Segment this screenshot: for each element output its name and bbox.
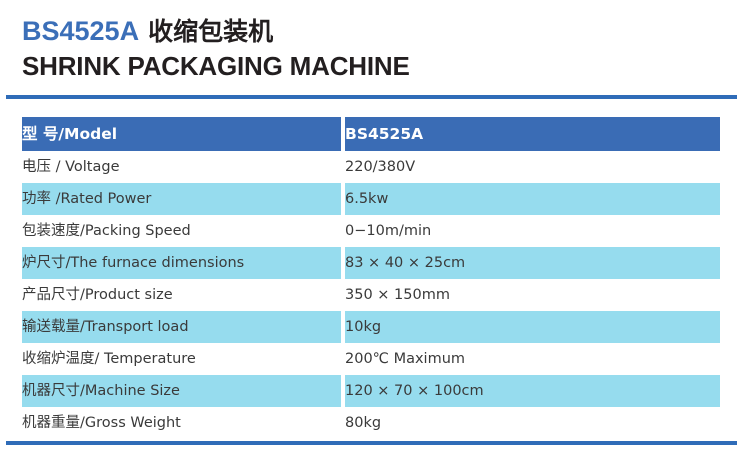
product-title-chinese: 收缩包装机 [139,17,273,46]
specifications-table: 型 号/Model BS4525A 电压 / Voltage 220/380V … [22,117,720,439]
spec-label: 包装速度/Packing Speed [22,215,341,247]
spec-label: 炉尺寸/The furnace dimensions [22,247,341,279]
divider-bottom [6,441,737,445]
table-row: 电压 / Voltage 220/380V [22,151,720,183]
table-row: 产品尺寸/Product size 350 × 150mm [22,279,720,311]
spec-table-body: 型 号/Model BS4525A 电压 / Voltage 220/380V … [22,117,720,439]
spec-value: 83 × 40 × 25cm [345,247,720,279]
spec-label: 电压 / Voltage [22,151,341,183]
table-row: 收缩炉温度/ Temperature 200℃ Maximum [22,343,720,375]
spec-value: 220/380V [345,151,720,183]
spec-sheet: BS4525A收缩包装机 SHRINK PACKAGING MACHINE 型 … [0,0,743,469]
spec-value: 6.5kw [345,183,720,215]
spec-label: 输送载量/Transport load [22,311,341,343]
spec-label: 产品尺寸/Product size [22,279,341,311]
spec-label: 功率 /Rated Power [22,183,341,215]
title-block: BS4525A收缩包装机 SHRINK PACKAGING MACHINE [22,14,722,82]
table-row: 包装速度/Packing Speed 0−10m/min [22,215,720,247]
table-header-row: 型 号/Model BS4525A [22,117,720,151]
spec-value: 200℃ Maximum [345,343,720,375]
spec-value: 350 × 150mm [345,279,720,311]
spec-label: 收缩炉温度/ Temperature [22,343,341,375]
table-row: 功率 /Rated Power 6.5kw [22,183,720,215]
table-header-label: 型 号/Model [22,117,341,151]
table-row: 机器尺寸/Machine Size 120 × 70 × 100cm [22,375,720,407]
spec-value: 0−10m/min [345,215,720,247]
spec-label: 机器重量/Gross Weight [22,407,341,439]
table-row: 机器重量/Gross Weight 80kg [22,407,720,439]
spec-label: 机器尺寸/Machine Size [22,375,341,407]
spec-value: 10kg [345,311,720,343]
spec-value: 120 × 70 × 100cm [345,375,720,407]
spec-value: 80kg [345,407,720,439]
table-row: 炉尺寸/The furnace dimensions 83 × 40 × 25c… [22,247,720,279]
product-title-english: SHRINK PACKAGING MACHINE [22,50,722,82]
product-model-code: BS4525A [22,16,139,46]
table-header-value: BS4525A [345,117,720,151]
table-row: 输送载量/Transport load 10kg [22,311,720,343]
divider-top [6,95,737,99]
product-title-line: BS4525A收缩包装机 [22,14,722,49]
